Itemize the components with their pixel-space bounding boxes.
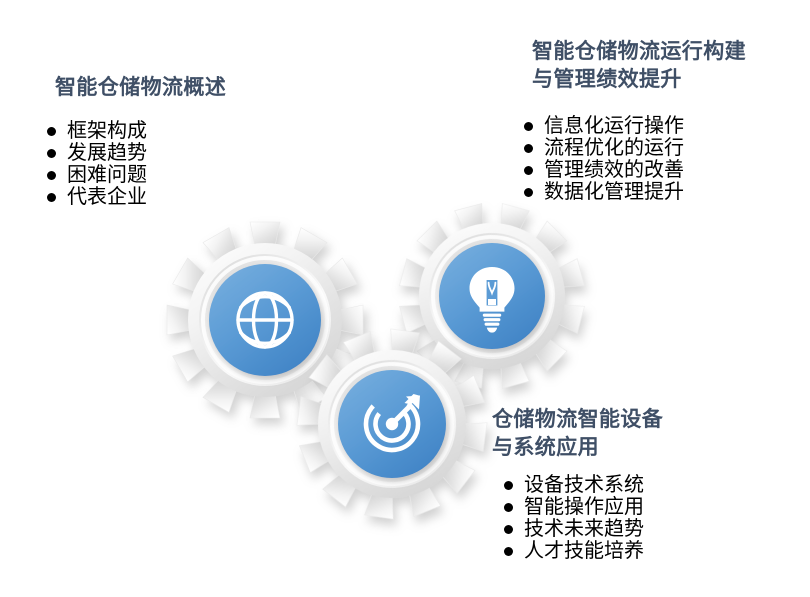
bullet-dot-icon <box>47 193 56 202</box>
bullet-dot-icon <box>524 166 533 175</box>
bullet-label: 人才技能培养 <box>524 540 644 562</box>
bullet-dot-icon <box>47 171 56 180</box>
bullet-dot-icon <box>504 547 513 556</box>
list-item: 人才技能培养 <box>504 540 663 562</box>
bullet-label: 发展趋势 <box>67 142 147 164</box>
bullet-label: 数据化管理提升 <box>544 181 684 203</box>
bullet-dot-icon <box>47 149 56 158</box>
text-block-operation: 智能仓储物流运行构建 与管理绩效提升 信息化运行操作 流程优化的运行 管理绩效的… <box>532 38 746 203</box>
bullet-label: 智能操作应用 <box>524 496 644 518</box>
bullet-label: 困难问题 <box>67 164 147 186</box>
text-block-equipment: 仓储物流智能设备 与系统应用 设备技术系统 智能操作应用 技术未来趋势 人才技能… <box>492 406 663 562</box>
slide-canvas: 智能仓储物流概述 框架构成 发展趋势 困难问题 代表企业 智能仓储物流运行构建 <box>0 0 810 597</box>
operation-bullet-list: 信息化运行操作 流程优化的运行 管理绩效的改善 数据化管理提升 <box>524 115 746 203</box>
overview-heading: 智能仓储物流概述 <box>55 74 226 102</box>
list-item: 发展趋势 <box>47 142 226 164</box>
bullet-dot-icon <box>524 188 533 197</box>
list-item: 设备技术系统 <box>504 474 663 496</box>
overview-bullet-list: 框架构成 发展趋势 困难问题 代表企业 <box>47 120 226 208</box>
equipment-bullet-list: 设备技术系统 智能操作应用 技术未来趋势 人才技能培养 <box>504 474 663 562</box>
list-item: 流程优化的运行 <box>524 137 746 159</box>
operation-heading-line: 与管理绩效提升 <box>532 66 746 94</box>
list-item: 管理绩效的改善 <box>524 159 746 181</box>
bullet-label: 技术未来趋势 <box>524 518 644 540</box>
list-item: 数据化管理提升 <box>524 181 746 203</box>
list-item: 困难问题 <box>47 164 226 186</box>
equipment-heading: 仓储物流智能设备 与系统应用 <box>492 406 663 462</box>
bullet-label: 设备技术系统 <box>524 474 644 496</box>
list-item: 技术未来趋势 <box>504 518 663 540</box>
list-item: 代表企业 <box>47 186 226 208</box>
bullet-dot-icon <box>524 144 533 153</box>
list-item: 框架构成 <box>47 120 226 142</box>
bullet-dot-icon <box>504 481 513 490</box>
equipment-heading-line: 仓储物流智能设备 <box>492 406 663 434</box>
list-item: 信息化运行操作 <box>524 115 746 137</box>
list-item: 智能操作应用 <box>504 496 663 518</box>
bullet-label: 管理绩效的改善 <box>544 159 684 181</box>
bullet-label: 信息化运行操作 <box>544 115 684 137</box>
text-block-overview: 智能仓储物流概述 框架构成 发展趋势 困难问题 代表企业 <box>55 74 226 208</box>
bullet-label: 代表企业 <box>67 186 147 208</box>
bullet-dot-icon <box>504 503 513 512</box>
bullet-label: 流程优化的运行 <box>544 137 684 159</box>
equipment-heading-line: 与系统应用 <box>492 434 663 462</box>
operation-heading: 智能仓储物流运行构建 与管理绩效提升 <box>532 38 746 94</box>
bullet-dot-icon <box>524 122 533 131</box>
operation-heading-line: 智能仓储物流运行构建 <box>532 38 746 66</box>
bullet-dot-icon <box>47 127 56 136</box>
overview-heading-line: 智能仓储物流概述 <box>55 74 226 102</box>
bullet-dot-icon <box>504 525 513 534</box>
bullet-label: 框架构成 <box>67 120 147 142</box>
